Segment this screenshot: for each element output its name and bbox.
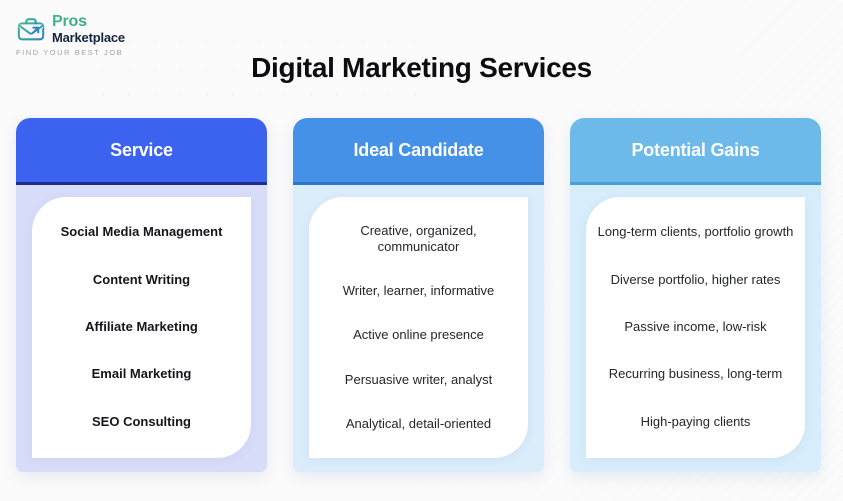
table-cell: Persuasive writer, analyst (319, 372, 518, 389)
column-body-ideal-candidate: Creative, organized, communicator Writer… (293, 185, 544, 472)
table-cell: Creative, organized, communicator (319, 223, 518, 257)
table-column-ideal-candidate: Ideal Candidate Creative, organized, com… (293, 118, 544, 472)
table-cell: Long-term clients, portfolio growth (596, 224, 795, 241)
logo-wordmark: Pros Marketplace (52, 14, 125, 44)
brand-logo: Pros Marketplace FIND YOUR BEST JOB (16, 14, 125, 57)
column-card-potential-gains: Long-term clients, portfolio growth Dive… (586, 197, 805, 458)
table-cell: Writer, learner, informative (319, 283, 518, 300)
table-cell: Content Writing (42, 272, 241, 289)
comparison-table: Service Social Media Management Content … (16, 118, 827, 472)
table-column-service: Service Social Media Management Content … (16, 118, 267, 472)
table-cell: Social Media Management (42, 224, 241, 241)
logo-name-primary: Pros (52, 14, 125, 30)
table-cell: SEO Consulting (42, 414, 241, 431)
column-body-service: Social Media Management Content Writing … (16, 185, 267, 472)
column-card-ideal-candidate: Creative, organized, communicator Writer… (309, 197, 528, 458)
table-cell: Diverse portfolio, higher rates (596, 272, 795, 289)
table-cell: Affiliate Marketing (42, 319, 241, 336)
logo-tagline: FIND YOUR BEST JOB (16, 48, 123, 57)
logo-name-secondary: Marketplace (52, 31, 125, 44)
table-cell: Analytical, detail-oriented (319, 416, 518, 433)
table-cell: Email Marketing (42, 366, 241, 383)
column-header-service: Service (16, 118, 267, 182)
column-header-ideal-candidate: Ideal Candidate (293, 118, 544, 182)
table-cell: Recurring business, long-term (596, 366, 795, 383)
column-card-service: Social Media Management Content Writing … (32, 197, 251, 458)
table-cell: Passive income, low-risk (596, 319, 795, 336)
column-header-potential-gains: Potential Gains (570, 118, 821, 182)
logo-lockup: Pros Marketplace (16, 14, 125, 44)
table-column-potential-gains: Potential Gains Long-term clients, portf… (570, 118, 821, 472)
table-cell: High-paying clients (596, 414, 795, 431)
page-title: Digital Marketing Services (0, 52, 843, 84)
briefcase-arrow-icon (16, 14, 46, 44)
table-cell: Active online presence (319, 327, 518, 344)
column-body-potential-gains: Long-term clients, portfolio growth Dive… (570, 185, 821, 472)
